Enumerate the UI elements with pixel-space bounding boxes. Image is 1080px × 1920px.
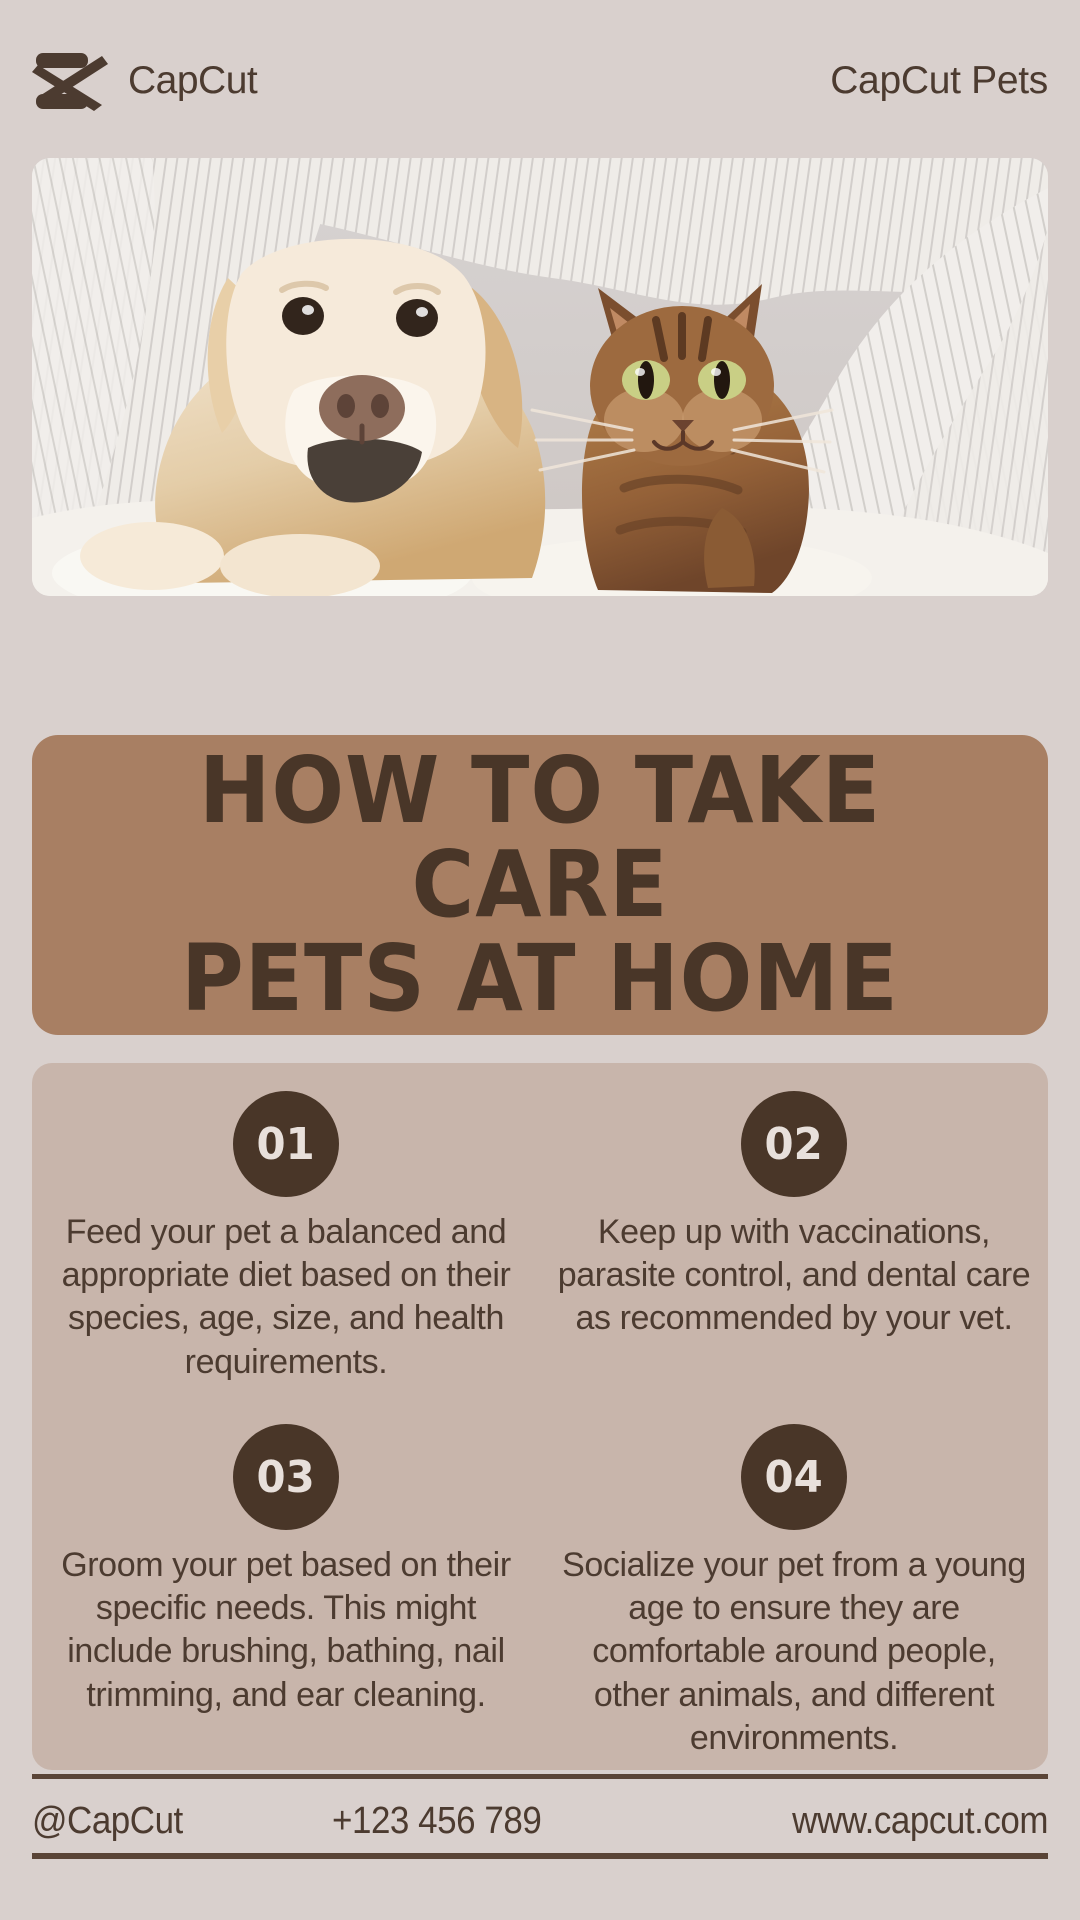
tip-text-02: Keep up with vaccinations, parasite cont… (554, 1211, 1034, 1341)
hero-photo (32, 158, 1048, 596)
page-footer: @CapCut +123 456 789 www.capcut.com (32, 1790, 1048, 1852)
footer-phone[interactable]: +123 456 789 (332, 1800, 663, 1843)
tip-badge-01: 01 (233, 1091, 339, 1197)
page-title-line-1: HOW TO TAKE CARE (68, 744, 1013, 932)
tip-number-01: 01 (257, 1119, 315, 1170)
tip-number-03: 03 (257, 1452, 315, 1503)
tip-item-04: 04 Socialize your pet from a young age t… (540, 1396, 1048, 1770)
tip-number-04: 04 (765, 1452, 823, 1503)
tips-grid: 01 Feed your pet a balanced and appropri… (32, 1063, 1048, 1770)
capcut-bowtie-logo-icon (32, 51, 108, 111)
footer-social-handle[interactable]: @CapCut (32, 1800, 308, 1843)
tip-badge-04: 04 (741, 1424, 847, 1530)
tip-number-02: 02 (765, 1119, 823, 1170)
brand-lockup: CapCut (32, 51, 257, 111)
tip-badge-03: 03 (233, 1424, 339, 1530)
title-banner: HOW TO TAKE CARE PETS AT HOME (32, 735, 1048, 1035)
tip-text-04: Socialize your pet from a young age to e… (554, 1544, 1034, 1760)
footer-divider-top (32, 1774, 1048, 1779)
tip-item-01: 01 Feed your pet a balanced and appropri… (32, 1063, 540, 1396)
footer-divider-bottom (32, 1853, 1048, 1859)
header-right-label: CapCut Pets (830, 59, 1048, 103)
tip-item-03: 03 Groom your pet based on their specifi… (32, 1396, 540, 1770)
page-title-line-2: PETS AT HOME (181, 932, 899, 1026)
tip-text-01: Feed your pet a balanced and appropriate… (54, 1211, 518, 1384)
tip-item-02: 02 Keep up with vaccinations, parasite c… (540, 1063, 1048, 1396)
infographic-poster: CapCut CapCut Pets (0, 0, 1080, 1920)
brand-name: CapCut (128, 59, 257, 103)
page-header: CapCut CapCut Pets (32, 48, 1048, 114)
tip-badge-02: 02 (741, 1091, 847, 1197)
tips-card: 01 Feed your pet a balanced and appropri… (32, 1063, 1048, 1770)
footer-website[interactable]: www.capcut.com (720, 1800, 1048, 1843)
tip-text-03: Groom your pet based on their specific n… (54, 1544, 518, 1717)
